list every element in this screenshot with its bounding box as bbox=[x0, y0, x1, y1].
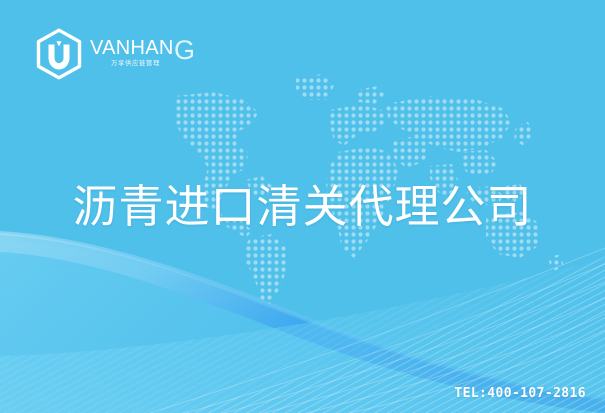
page-title: 沥青进口清关代理公司 bbox=[0, 177, 605, 237]
promo-banner: VANHAN G 万享供应链管理 沥青进口清关代理公司 TEL:400-107-… bbox=[0, 0, 605, 413]
wordmark-text: VANHAN bbox=[90, 37, 174, 59]
vanhang-hexagon-u-logo bbox=[34, 28, 84, 80]
contact-phone: TEL:400-107-2816 bbox=[454, 386, 586, 401]
brand-logo: VANHAN G 万享供应链管理 bbox=[34, 28, 202, 80]
brand-wordmark-group: VANHAN G 万享供应链管理 bbox=[90, 32, 202, 76]
wordmark-g-letter: G bbox=[174, 35, 195, 65]
wordmark-chinese-subtitle: 万享供应链管理 bbox=[111, 58, 160, 67]
vanhang-wordmark: VANHAN G 万享供应链管理 bbox=[90, 32, 202, 76]
